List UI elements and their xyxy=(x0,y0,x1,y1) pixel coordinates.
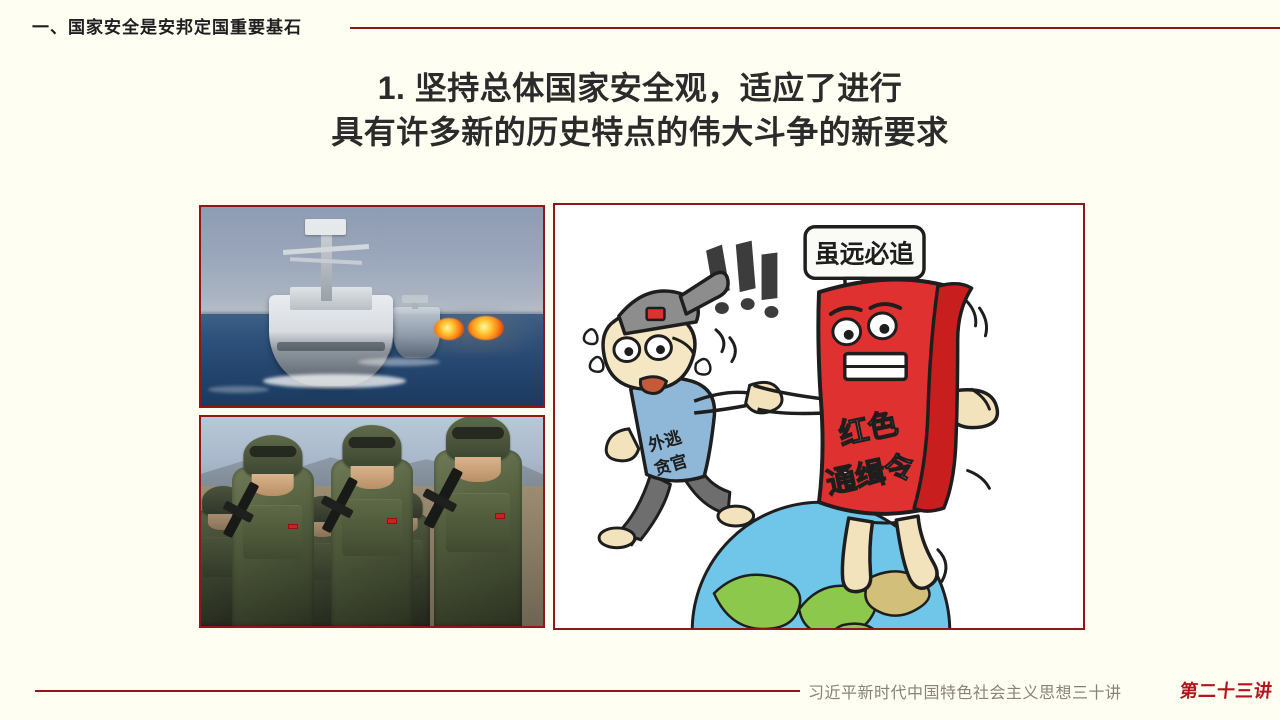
footer-lecture-number: 第二十三讲 xyxy=(1179,677,1274,703)
soldier-front-left xyxy=(232,467,314,626)
speech-bubble-text: 虽远必追 xyxy=(815,239,914,268)
footer-divider-rule xyxy=(35,690,800,692)
footer-series-title: 习近平新时代中国特色社会主义思想三十讲 xyxy=(808,679,1122,703)
face xyxy=(351,466,394,489)
soldier-front-center xyxy=(331,459,413,626)
troops-photo-art xyxy=(201,417,543,626)
red-notice-cartoon-panel: 虽远必追 外 xyxy=(553,203,1085,630)
goggles xyxy=(452,427,503,439)
tactical-vest xyxy=(446,493,510,553)
navy-warships-photo xyxy=(199,205,545,408)
flag-patch xyxy=(495,513,505,519)
flag-patch xyxy=(288,524,297,529)
soldiers-formation-photo xyxy=(199,415,545,628)
red-notice-cartoon-art: 虽远必追 外 xyxy=(555,205,1083,628)
flag-patch xyxy=(387,518,396,524)
bow-wake-1 xyxy=(263,374,407,388)
goggles xyxy=(348,437,395,448)
soldier-front-right xyxy=(434,450,523,626)
media-area: 虽远必追 外 xyxy=(0,0,1280,720)
navy-photo-art xyxy=(201,207,543,406)
helmet xyxy=(243,435,302,476)
distant-warship-2 xyxy=(393,307,441,359)
radar-array xyxy=(305,219,346,235)
muzzle-flash-2 xyxy=(468,316,504,340)
face xyxy=(455,457,501,482)
goggles xyxy=(249,446,296,457)
tactical-vest xyxy=(342,499,401,556)
slide-footer: 习近平新时代中国特色社会主义思想三十讲 第二十三讲 xyxy=(0,662,1280,720)
helmet xyxy=(342,425,401,468)
helmet xyxy=(446,415,510,461)
